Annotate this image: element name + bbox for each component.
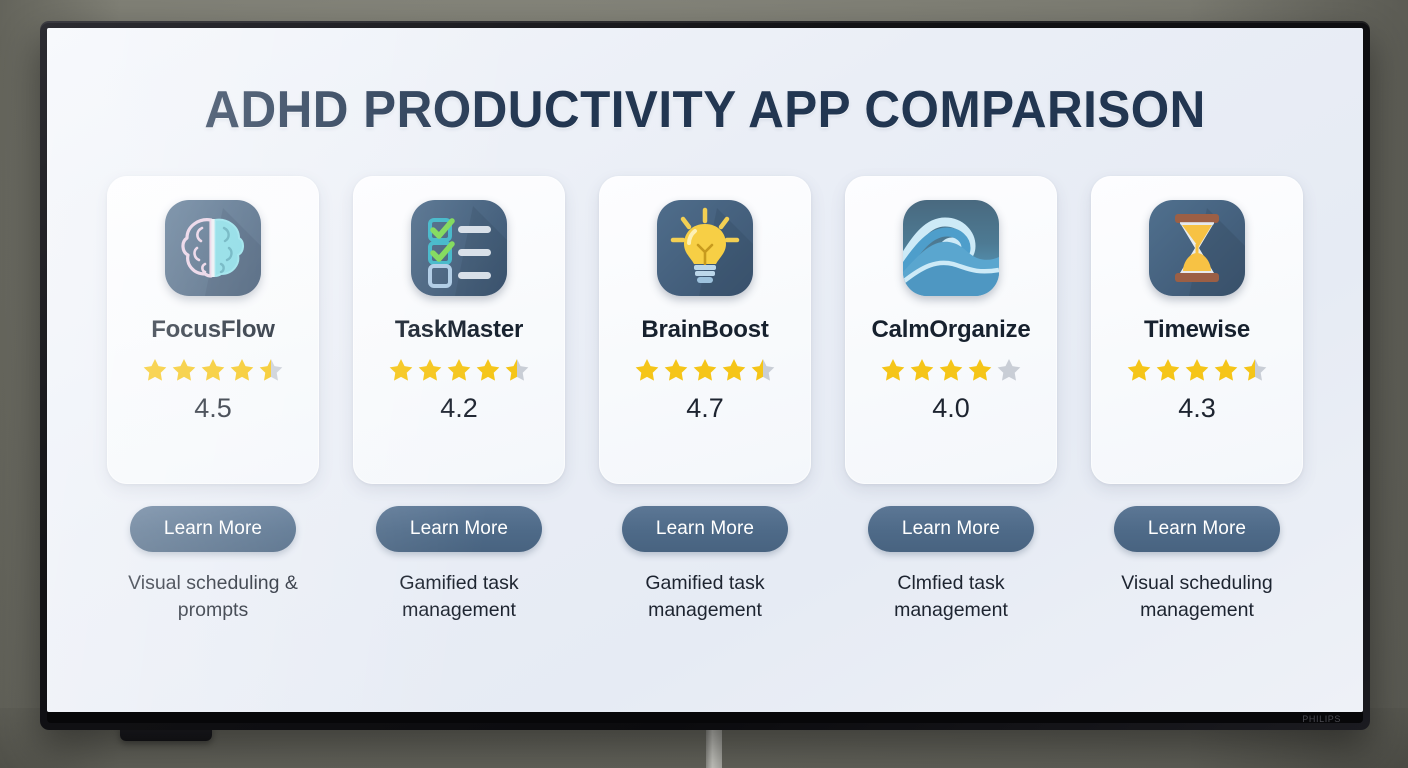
app-card[interactable]: CalmOrganize 4.0 (845, 176, 1057, 484)
app-card[interactable]: Timewise (1091, 176, 1303, 484)
learn-more-button[interactable]: Learn More (868, 506, 1034, 552)
app-card[interactable]: BrainBoost (599, 176, 811, 484)
star-full-icon (1183, 356, 1211, 384)
star-full-icon (416, 356, 444, 384)
room-scene: ADHD PRODUCTIVITY APP COMPARISON (0, 0, 1408, 768)
star-full-icon (879, 356, 907, 384)
app-name: Timewise (1144, 316, 1250, 344)
star-full-icon (1212, 356, 1240, 384)
star-full-icon (908, 356, 936, 384)
star-full-icon (1125, 356, 1153, 384)
rating-value: 4.7 (686, 393, 724, 424)
star-full-icon (474, 356, 502, 384)
app-tagline: Clmfied task management (853, 570, 1049, 623)
learn-more-button[interactable]: Learn More (622, 506, 788, 552)
learn-more-button[interactable]: Learn More (376, 506, 542, 552)
app-card[interactable]: FocusFlow (107, 176, 319, 484)
monitor-screen: ADHD PRODUCTIVITY APP COMPARISON (47, 28, 1363, 712)
app-card[interactable]: TaskMaster (353, 176, 565, 484)
rating-value: 4.3 (1178, 393, 1216, 424)
star-full-icon (633, 356, 661, 384)
monitor-bezel: ADHD PRODUCTIVITY APP COMPARISON (47, 28, 1363, 723)
star-half-icon (749, 356, 777, 384)
brain-icon (165, 200, 261, 296)
app-name: TaskMaster (395, 316, 523, 344)
app-comparison-row: FocusFlow (107, 176, 1303, 623)
app-column-taskmaster: TaskMaster (353, 176, 565, 623)
star-full-icon (720, 356, 748, 384)
star-full-icon (199, 356, 227, 384)
star-full-icon (662, 356, 690, 384)
star-rating (1125, 356, 1269, 384)
presentation-slide: ADHD PRODUCTIVITY APP COMPARISON (47, 28, 1363, 712)
star-rating (633, 356, 777, 384)
star-full-icon (170, 356, 198, 384)
star-full-icon (445, 356, 473, 384)
app-column-focusflow: FocusFlow (107, 176, 319, 623)
hourglass-icon (1149, 200, 1245, 296)
app-name: CalmOrganize (872, 316, 1031, 344)
app-column-timewise: Timewise (1091, 176, 1303, 623)
star-rating (141, 356, 285, 384)
star-rating (879, 356, 1023, 384)
star-full-icon (387, 356, 415, 384)
star-half-icon (1241, 356, 1269, 384)
star-rating (387, 356, 531, 384)
star-empty-icon (995, 356, 1023, 384)
app-name: BrainBoost (641, 316, 768, 344)
app-name: FocusFlow (151, 316, 275, 344)
learn-more-button[interactable]: Learn More (130, 506, 296, 552)
app-tagline: Visual scheduling management (1099, 570, 1295, 623)
rating-value: 4.0 (932, 393, 970, 424)
lightbulb-icon (657, 200, 753, 296)
page-title: ADHD PRODUCTIVITY APP COMPARISON (204, 80, 1205, 140)
star-full-icon (966, 356, 994, 384)
star-full-icon (691, 356, 719, 384)
star-full-icon (141, 356, 169, 384)
rating-value: 4.2 (440, 393, 478, 424)
star-full-icon (1154, 356, 1182, 384)
star-half-icon (503, 356, 531, 384)
checklist-icon (411, 200, 507, 296)
monitor-frame: ADHD PRODUCTIVITY APP COMPARISON (40, 21, 1370, 730)
star-full-icon (228, 356, 256, 384)
app-tagline: Visual scheduling & prompts (115, 570, 311, 623)
star-full-icon (937, 356, 965, 384)
app-tagline: Gamified task management (607, 570, 803, 623)
learn-more-button[interactable]: Learn More (1114, 506, 1280, 552)
app-tagline: Gamified task management (361, 570, 557, 623)
app-column-calmorganize: CalmOrganize 4.0 Learn Mor (845, 176, 1057, 623)
monitor-brand-mark: PHILIPS (1302, 714, 1341, 724)
app-column-brainboost: BrainBoost (599, 176, 811, 623)
wave-icon (903, 200, 999, 296)
star-half-icon (257, 356, 285, 384)
rating-value: 4.5 (194, 393, 232, 424)
